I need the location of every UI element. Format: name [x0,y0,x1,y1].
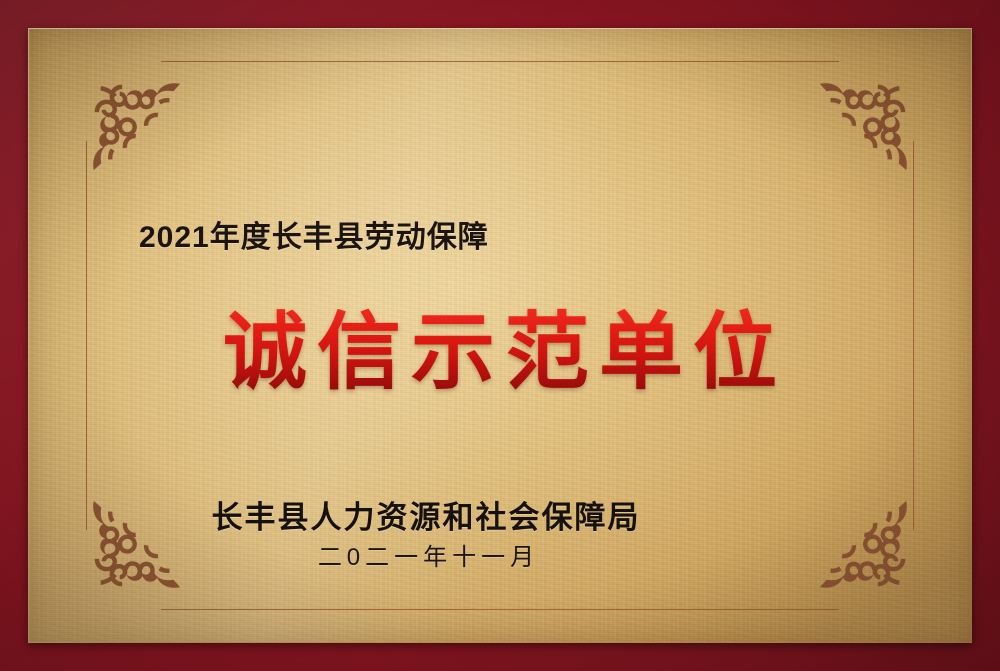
inner-rule-top [161,61,839,62]
issuing-authority: 长丰县人力资源和社会保障局 [29,492,971,537]
award-main-title: 诚信示范单位 [29,308,971,396]
certificate-panel: 2021年度长丰县劳动保障 诚信示范单位 长丰县人力资源和社会保障局 二0二一年… [29,29,971,642]
award-year-line: 2021年度长丰县劳动保障 [139,212,489,256]
corner-flourish-icon-top-left [87,77,183,173]
inner-rule-bottom [161,609,839,610]
award-plaque: 2021年度长丰县劳动保障 诚信示范单位 长丰县人力资源和社会保障局 二0二一年… [0,0,1000,671]
issue-date: 二0二一年十一月 [29,537,971,572]
corner-flourish-icon-top-right [817,77,913,173]
